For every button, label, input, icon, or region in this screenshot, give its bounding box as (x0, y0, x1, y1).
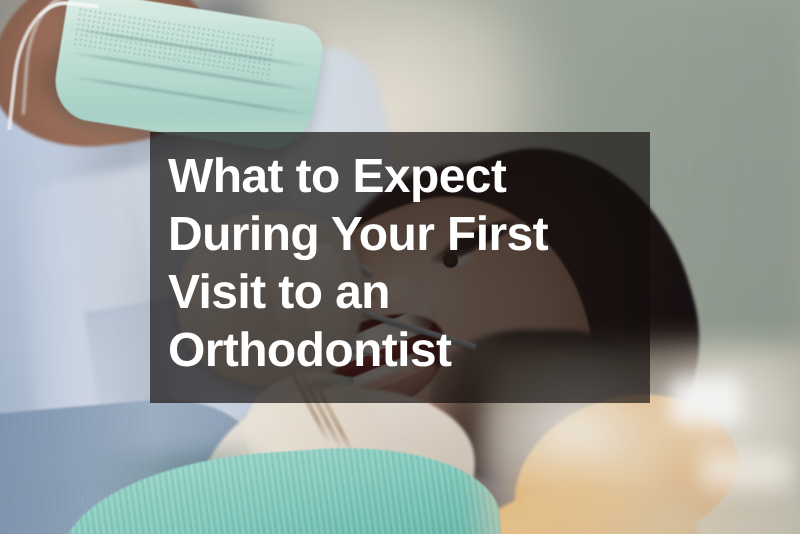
dentist-neck-shadow (10, 22, 200, 132)
surgical-mask-pleat (67, 51, 312, 93)
chair-shadow (459, 416, 631, 534)
patient-ear (498, 391, 577, 481)
patient-bib-shadow (56, 445, 264, 534)
title-overlay-panel: What to Expect During Your First Visit t… (150, 132, 650, 403)
patient-ear-inner (514, 408, 556, 459)
bokeh-highlight (700, 450, 792, 490)
patient-jaw (319, 396, 570, 534)
bokeh-highlight (670, 378, 740, 424)
surgical-mask-texture (72, 7, 276, 80)
chair-headrest-lower (431, 464, 710, 534)
article-hero-banner: What to Expect During Your First Visit t… (0, 0, 800, 534)
denim-sleeve (0, 391, 266, 534)
surgical-mask-strap (22, 0, 99, 119)
chair-navy-upholstery (425, 458, 614, 534)
page-title: What to Expect During Your First Visit t… (168, 148, 632, 380)
surgical-mask-strap (7, 0, 99, 138)
bokeh-warm-glow (500, 454, 680, 534)
surgical-mask-pleat (67, 27, 312, 69)
patient-bib (55, 437, 504, 534)
surgical-mask-pleat (67, 75, 312, 117)
